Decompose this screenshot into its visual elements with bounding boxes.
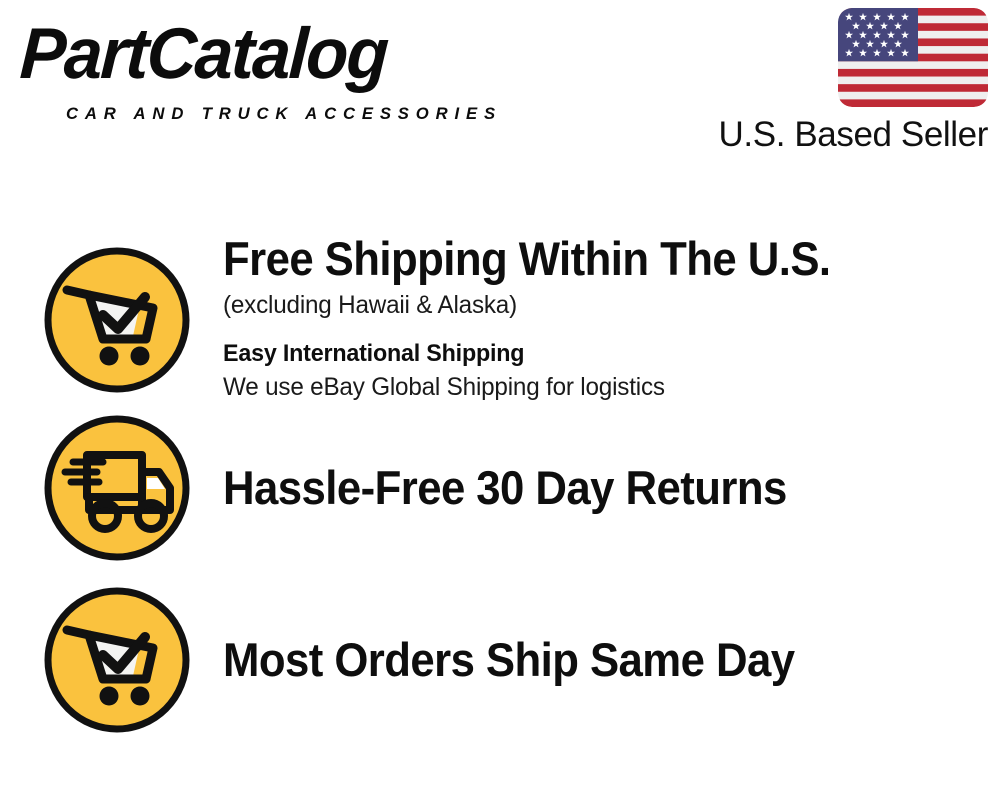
shopping-cart-check-icon xyxy=(41,584,193,736)
feature-headline: Hassle-Free 30 Day Returns xyxy=(223,464,946,511)
feature-text-returns: Hassle-Free 30 Day Returns xyxy=(223,464,1000,513)
feature-row-returns: Hassle-Free 30 Day Returns xyxy=(0,412,1000,564)
feature-row-same-day-shipping: Most Orders Ship Same Day xyxy=(0,584,1000,736)
us-based-seller-label: U.S. Based Seller xyxy=(708,117,988,154)
feature-subline-plain: We use eBay Global Shipping for logistic… xyxy=(223,371,977,404)
us-based-seller-badge: U.S. Based Seller xyxy=(708,8,988,154)
feature-subline-strong: Easy International Shipping xyxy=(223,338,977,369)
feature-row-free-shipping: Free Shipping Within The U.S. (excluding… xyxy=(0,240,1000,400)
brand-wordmark: PartCatalog xyxy=(18,18,388,90)
feature-text-free-shipping: Free Shipping Within The U.S. (excluding… xyxy=(223,235,1000,406)
feature-text-same-day: Most Orders Ship Same Day xyxy=(223,636,1000,685)
brand-tagline: CAR AND TRUCK ACCESSORIES xyxy=(66,104,502,124)
feature-headline: Most Orders Ship Same Day xyxy=(223,636,946,683)
us-flag-icon xyxy=(838,8,988,107)
feature-subline: (excluding Hawaii & Alaska) xyxy=(223,289,977,322)
brand-logo: PartCatalog CAR AND TRUCK ACCESSORIES xyxy=(22,18,492,114)
feature-headline: Free Shipping Within The U.S. xyxy=(223,235,946,282)
delivery-truck-icon xyxy=(41,412,193,564)
shopping-cart-check-icon xyxy=(41,244,193,396)
